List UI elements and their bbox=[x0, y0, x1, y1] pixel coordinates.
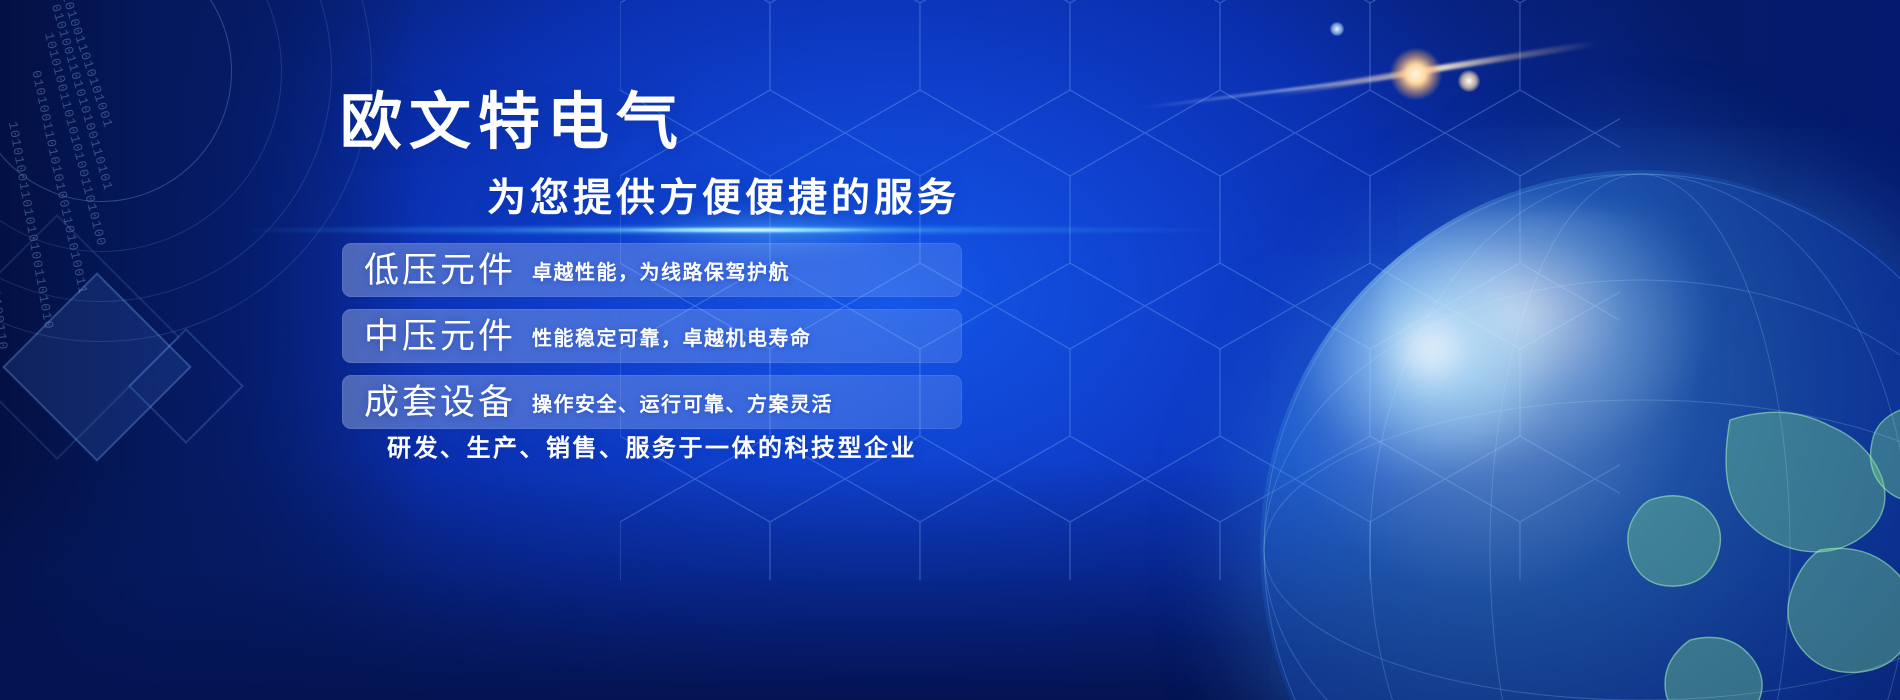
page-title: 欧文特电气 bbox=[340, 92, 685, 154]
feature-pill-title: 低压元件 bbox=[364, 253, 516, 288]
feature-pill-medium-voltage[interactable]: 中压元件 性能稳定可靠，卓越机电寿命 bbox=[342, 309, 962, 363]
feature-pill-description: 卓越性能，为线路保驾护航 bbox=[532, 256, 790, 285]
feature-pill-description: 操作安全、运行可靠、方案灵活 bbox=[532, 388, 833, 417]
feature-pill-description: 性能稳定可靠，卓越机电寿命 bbox=[532, 322, 812, 351]
feature-pill-list: 低压元件 卓越性能，为线路保驾护航 中压元件 性能稳定可靠，卓越机电寿命 成套设… bbox=[342, 243, 962, 441]
feature-pill-title: 成套设备 bbox=[364, 385, 516, 420]
banner-tagline: 研发、生产、销售、服务于一体的科技型企业 bbox=[342, 428, 962, 463]
feature-pill-title: 中压元件 bbox=[364, 319, 516, 354]
hero-banner: 101010011010101001 010100110101010011010… bbox=[0, 0, 1900, 700]
page-subtitle: 为您提供方便便捷的服务 bbox=[340, 178, 960, 221]
feature-pill-complete-equipment[interactable]: 成套设备 操作安全、运行可靠、方案灵活 bbox=[342, 375, 962, 429]
feature-pill-low-voltage[interactable]: 低压元件 卓越性能，为线路保驾护航 bbox=[342, 243, 962, 297]
banner-content: 欧文特电气 为您提供方便便捷的服务 低压元件 卓越性能，为线路保驾护航 中压元件… bbox=[0, 0, 1900, 700]
